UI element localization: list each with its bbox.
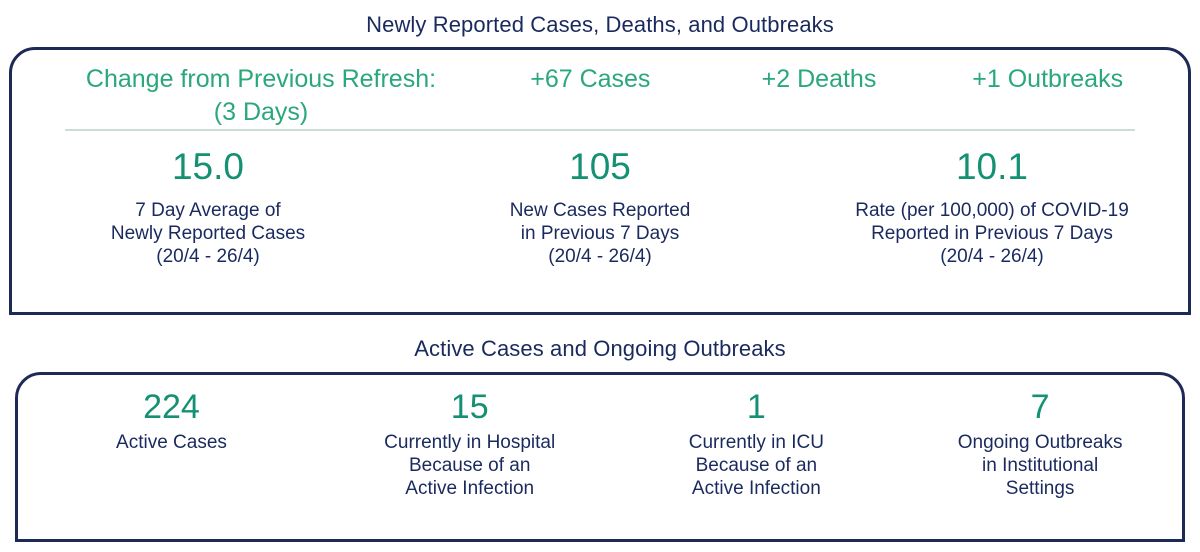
- stat-rate-value: 10.1: [796, 145, 1188, 189]
- section-active-cases: Active Cases and Ongoing Outbreaks 224 A…: [0, 336, 1200, 542]
- active-cases-card: 224 Active Cases 15 Currently in Hospita…: [15, 372, 1185, 542]
- stat-currently-in-hospital-label: Currently in Hospital Because of an Acti…: [325, 431, 615, 500]
- label-line-2: Reported in Previous 7 Days: [796, 222, 1188, 245]
- newly-reported-card: Change from Previous Refresh: (3 Days) +…: [9, 47, 1191, 315]
- covid-summary-dashboard: Newly Reported Cases, Deaths, and Outbre…: [0, 0, 1200, 552]
- label-line-3: Active Infection: [325, 477, 615, 500]
- section-two-title: Active Cases and Ongoing Outbreaks: [0, 336, 1200, 362]
- section-newly-reported: Newly Reported Cases, Deaths, and Outbre…: [0, 0, 1200, 315]
- stat-currently-in-icu-label: Currently in ICU Because of an Active In…: [614, 431, 898, 500]
- label-line-2: Because of an: [325, 454, 615, 477]
- stat-new-cases-previous-7-days: 105 New Cases Reported in Previous 7 Day…: [404, 145, 796, 268]
- section-one-stats-row: 15.0 7 Day Average of Newly Reported Cas…: [12, 131, 1188, 268]
- label-line-2: Newly Reported Cases: [12, 222, 404, 245]
- label-line-3: (20/4 - 26/4): [404, 245, 796, 268]
- stat-seven-day-average: 15.0 7 Day Average of Newly Reported Cas…: [12, 145, 404, 268]
- section-two-stats-row: 224 Active Cases 15 Currently in Hospita…: [18, 375, 1182, 500]
- label-line-2: in Institutional: [898, 454, 1182, 477]
- stat-new-cases-label: New Cases Reported in Previous 7 Days (2…: [404, 199, 796, 268]
- label-line-2: in Previous 7 Days: [404, 222, 796, 245]
- stat-active-cases-label: Active Cases: [18, 431, 325, 454]
- change-label-line2: (3 Days): [46, 96, 476, 129]
- change-label: Change from Previous Refresh: (3 Days): [38, 63, 476, 129]
- label-line-1: Ongoing Outbreaks: [898, 431, 1182, 454]
- stat-ongoing-outbreaks-value: 7: [898, 387, 1182, 427]
- stat-seven-day-average-value: 15.0: [12, 145, 404, 189]
- stat-ongoing-outbreaks-label: Ongoing Outbreaks in Institutional Setti…: [898, 431, 1182, 500]
- stat-currently-in-hospital: 15 Currently in Hospital Because of an A…: [325, 387, 615, 500]
- change-metric-cases: +67 Cases: [476, 63, 705, 96]
- label-line-3: Settings: [898, 477, 1182, 500]
- label-line-1: Currently in Hospital: [325, 431, 615, 454]
- section-one-title: Newly Reported Cases, Deaths, and Outbre…: [0, 12, 1200, 38]
- stat-active-cases-value: 224: [18, 387, 325, 427]
- label-line-3: Active Infection: [614, 477, 898, 500]
- stat-seven-day-average-label: 7 Day Average of Newly Reported Cases (2…: [12, 199, 404, 268]
- stat-currently-in-hospital-value: 15: [325, 387, 615, 427]
- change-metric-deaths: +2 Deaths: [705, 63, 934, 96]
- label-line-1: Currently in ICU: [614, 431, 898, 454]
- change-label-line1: Change from Previous Refresh:: [46, 63, 476, 96]
- stat-rate-per-100000: 10.1 Rate (per 100,000) of COVID-19 Repo…: [796, 145, 1188, 268]
- stat-ongoing-outbreaks: 7 Ongoing Outbreaks in Institutional Set…: [898, 387, 1182, 500]
- stat-active-cases: 224 Active Cases: [18, 387, 325, 500]
- label-line-1: New Cases Reported: [404, 199, 796, 222]
- stat-rate-label: Rate (per 100,000) of COVID-19 Reported …: [796, 199, 1188, 268]
- label-line-2: Because of an: [614, 454, 898, 477]
- label-line-1: 7 Day Average of: [12, 199, 404, 222]
- stat-currently-in-icu: 1 Currently in ICU Because of an Active …: [614, 387, 898, 500]
- label-line-3: (20/4 - 26/4): [796, 245, 1188, 268]
- label-line-1: Rate (per 100,000) of COVID-19: [796, 199, 1188, 222]
- label-line-3: (20/4 - 26/4): [12, 245, 404, 268]
- stat-currently-in-icu-value: 1: [614, 387, 898, 427]
- label-line-1: Active Cases: [18, 431, 325, 454]
- change-metric-outbreaks: +1 Outbreaks: [933, 63, 1162, 96]
- change-from-previous-refresh-row: Change from Previous Refresh: (3 Days) +…: [12, 50, 1188, 125]
- stat-new-cases-value: 105: [404, 145, 796, 189]
